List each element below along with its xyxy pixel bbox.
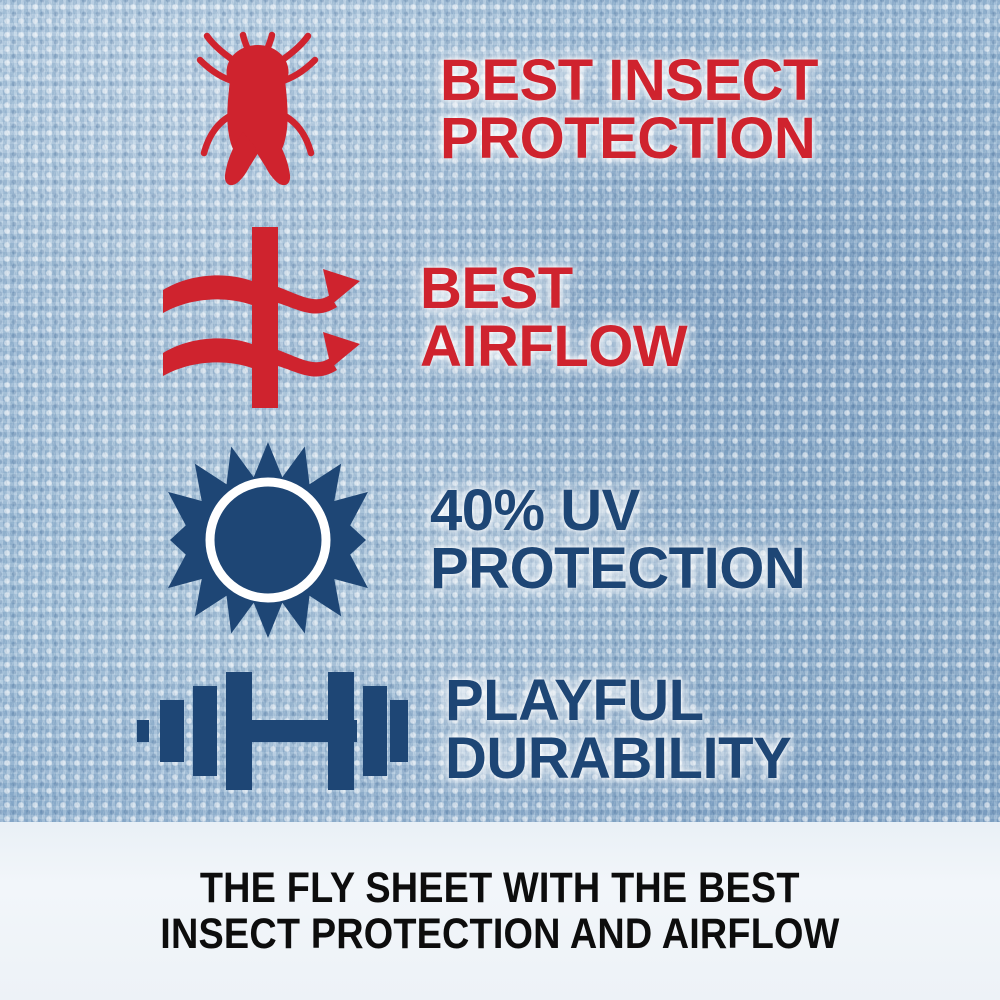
caption-line-2: INSECT PROTECTION AND AIRFLOW [160,911,839,957]
caption-line-1: THE FLY SHEET WITH THE BEST [200,865,800,911]
feature-label-durability: PLAYFUL DURABILITY [445,672,791,788]
sun-icon [168,440,368,640]
caption-bar: THE FLY SHEET WITH THE BEST INSECT PROTE… [0,822,1000,1000]
product-feature-infographic: BEST INSECT PROTECTION BEST AIRFLOW [0,0,1000,1000]
airflow-arrows-icon [155,225,370,410]
airflow-icon-wrapper [155,225,370,410]
feature-label-uv-protection: 40% UV PROTECTION [430,482,805,598]
dumbbell-icon-wrapper [135,658,410,803]
feature-label-airflow: BEST AIRFLOW [420,260,687,376]
fly-icon [170,20,345,200]
fly-icon-wrapper [170,20,345,200]
feature-row-durability: PLAYFUL DURABILITY [135,650,985,810]
feature-label-insect-protection: BEST INSECT PROTECTION [440,52,818,168]
dumbbell-icon [135,658,410,803]
feature-row-airflow: BEST AIRFLOW [155,225,985,410]
feature-row-uv-protection: 40% UV PROTECTION [160,440,990,640]
feature-row-insect-protection: BEST INSECT PROTECTION [170,20,990,200]
sun-icon-wrapper [160,440,375,640]
